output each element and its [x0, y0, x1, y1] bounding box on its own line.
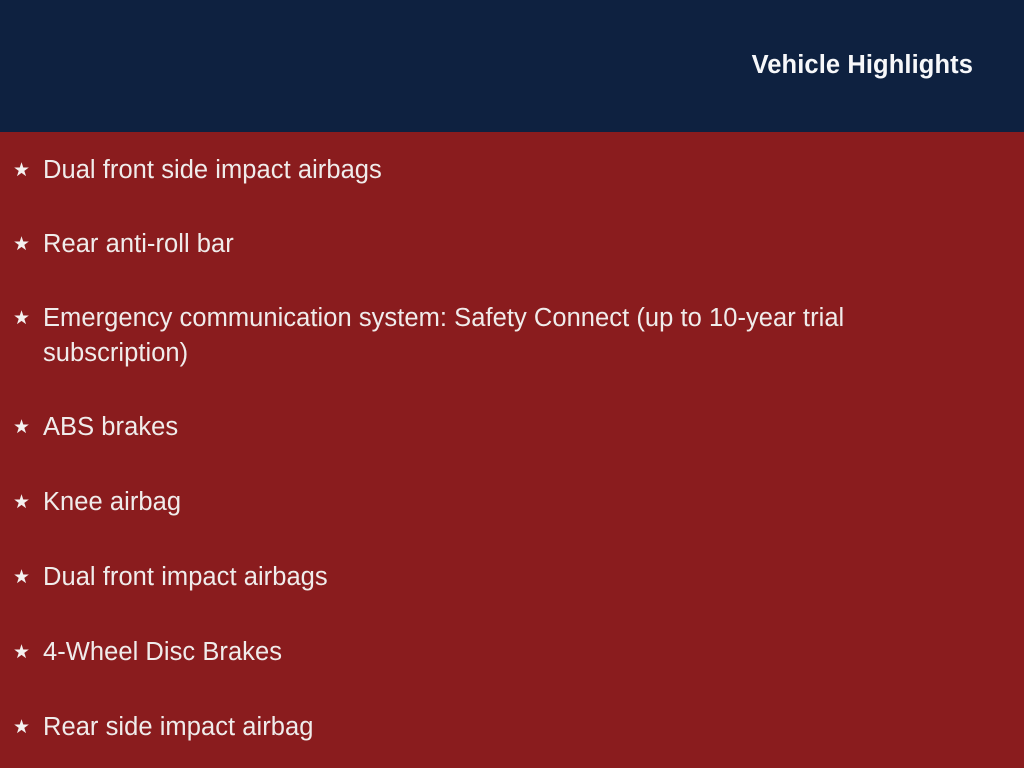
star-icon: ★: [13, 560, 31, 595]
list-item-label: Rear anti-roll bar: [43, 227, 954, 262]
list-item: ★ Dual front impact airbags: [0, 560, 1024, 595]
star-icon: ★: [13, 635, 31, 670]
list-item: ★ 4-Wheel Disc Brakes: [0, 635, 1024, 670]
star-icon: ★: [13, 301, 31, 336]
highlights-content: ★ Dual front side impact airbags ★ Rear …: [0, 132, 1024, 768]
star-icon: ★: [13, 227, 31, 262]
list-item: ★ Dual front side impact airbags: [0, 153, 1024, 188]
star-icon: ★: [13, 153, 31, 188]
vehicle-highlights-list: ★ Dual front side impact airbags ★ Rear …: [0, 153, 1024, 745]
list-item-label: ABS brakes: [43, 410, 954, 445]
list-item: ★ ABS brakes: [0, 410, 1024, 445]
list-item-label: Dual front impact airbags: [43, 560, 954, 595]
slide-vehicle-highlights: Vehicle Highlights ★ Dual front side imp…: [0, 0, 1024, 768]
list-item: ★ Emergency communication system: Safety…: [0, 301, 1018, 371]
star-icon: ★: [13, 410, 31, 445]
page-title: Vehicle Highlights: [752, 49, 973, 81]
list-item-label: Rear side impact airbag: [43, 710, 954, 745]
star-icon: ★: [13, 710, 31, 745]
list-item: ★ Rear side impact airbag: [0, 710, 1024, 745]
list-item-label: Emergency communication system: Safety C…: [43, 301, 948, 371]
star-icon: ★: [13, 485, 31, 520]
list-item-label: Knee airbag: [43, 485, 954, 520]
list-item-label: 4-Wheel Disc Brakes: [43, 635, 954, 670]
header-band: Vehicle Highlights: [0, 0, 1024, 132]
list-item: ★ Knee airbag: [0, 485, 1024, 520]
list-item: ★ Rear anti-roll bar: [0, 227, 1024, 262]
list-item-label: Dual front side impact airbags: [43, 153, 954, 188]
